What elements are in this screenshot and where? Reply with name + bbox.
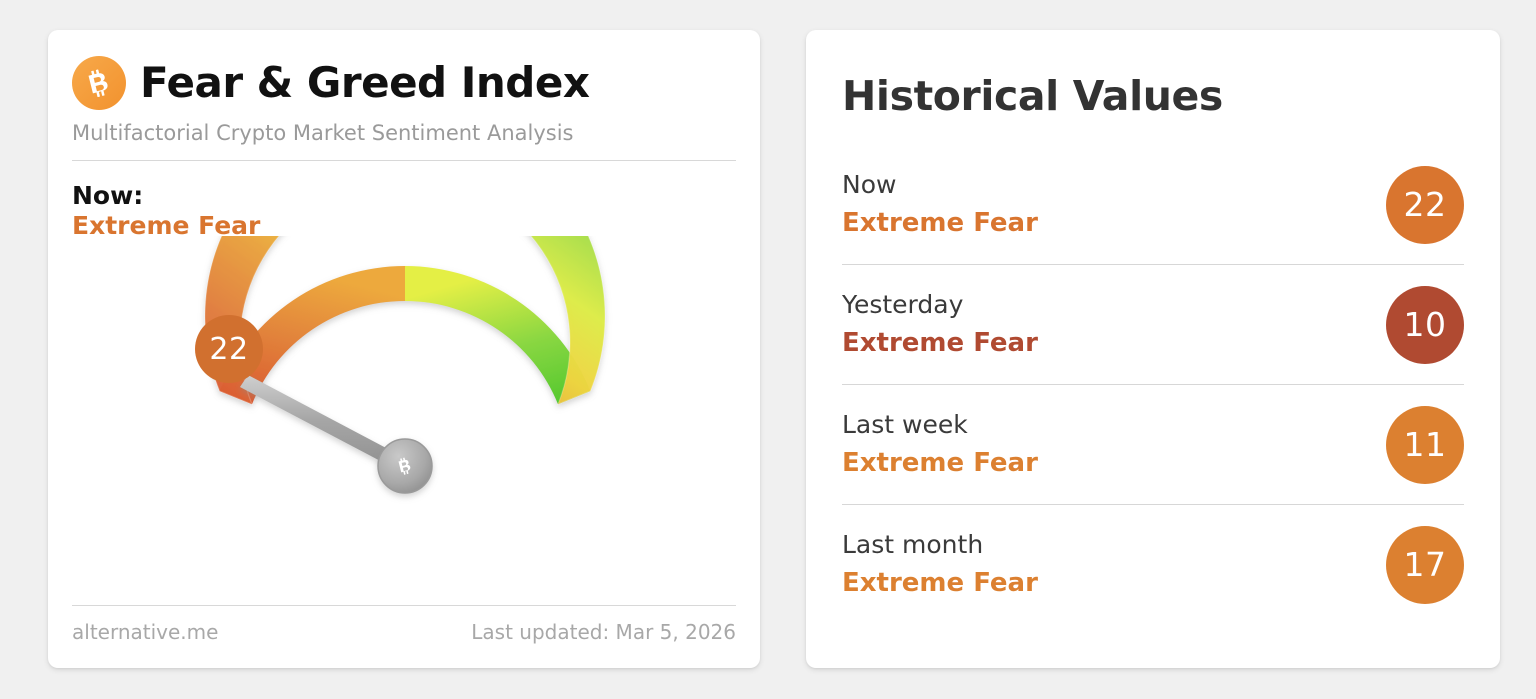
historical-values-card: Historical Values Now Extreme Fear 22 Ye… — [806, 30, 1500, 668]
list-item[interactable]: Last week Extreme Fear 11 — [842, 385, 1464, 505]
list-item[interactable]: Last month Extreme Fear 17 — [842, 505, 1464, 624]
row-value-badge: 10 — [1386, 286, 1464, 364]
gauge-card-header: Fear & Greed Index — [72, 30, 736, 110]
page-title: Fear & Greed Index — [140, 62, 589, 104]
gauge-value-badge: 22 — [195, 315, 263, 383]
row-period-label: Now — [842, 169, 1038, 201]
gauge-card-footer: alternative.me Last updated: Mar 5, 2026 — [72, 605, 736, 644]
list-item[interactable]: Now Extreme Fear 22 — [842, 145, 1464, 265]
row-classification-label: Extreme Fear — [842, 207, 1038, 240]
fear-greed-gauge-card: Fear & Greed Index Multifactorial Crypto… — [48, 30, 760, 668]
page-subtitle: Multifactorial Crypto Market Sentiment A… — [72, 123, 736, 144]
row-period-label: Yesterday — [842, 289, 1038, 321]
historical-values-list: Now Extreme Fear 22 Yesterday Extreme Fe… — [842, 145, 1464, 624]
gauge-arc — [205, 236, 605, 404]
header-divider — [72, 160, 736, 161]
bitcoin-icon — [72, 56, 126, 110]
gauge-chart: 22 — [72, 236, 736, 566]
row-period-label: Last month — [842, 529, 1038, 561]
footer-source-link[interactable]: alternative.me — [72, 620, 218, 644]
row-value-badge: 17 — [1386, 526, 1464, 604]
row-period-label: Last week — [842, 409, 1038, 441]
gauge-svg — [72, 236, 736, 566]
row-value-badge: 22 — [1386, 166, 1464, 244]
row-classification-label: Extreme Fear — [842, 327, 1038, 360]
row-value-badge: 11 — [1386, 406, 1464, 484]
footer-divider — [72, 605, 736, 606]
row-classification-label: Extreme Fear — [842, 567, 1038, 600]
current-value-block: Now: Extreme Fear — [72, 181, 736, 240]
row-classification-label: Extreme Fear — [842, 447, 1038, 480]
gauge-hub — [378, 439, 432, 493]
historical-values-title: Historical Values — [842, 30, 1464, 117]
footer-last-updated: Last updated: Mar 5, 2026 — [471, 620, 736, 644]
list-item[interactable]: Yesterday Extreme Fear 10 — [842, 265, 1464, 385]
now-label: Now: — [72, 181, 736, 211]
